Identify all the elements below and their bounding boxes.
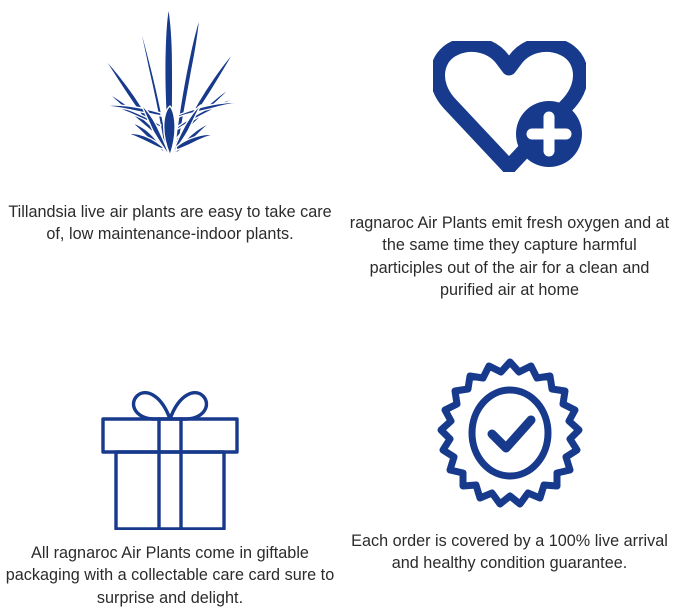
feature-cell-giftable: All ragnaroc Air Plants come in giftable… bbox=[0, 308, 340, 616]
heart-plus-icon bbox=[340, 0, 679, 172]
feature-caption: ragnaroc Air Plants emit fresh oxygen an… bbox=[350, 212, 670, 301]
feature-caption: All ragnaroc Air Plants come in giftable… bbox=[4, 542, 336, 609]
feature-caption: Each order is covered by a 100% live arr… bbox=[345, 530, 675, 575]
verified-badge-icon bbox=[340, 308, 679, 518]
feature-cell-oxygen: ragnaroc Air Plants emit fresh oxygen an… bbox=[340, 0, 679, 308]
feature-grid: Tillandsia live air plants are easy to t… bbox=[0, 0, 679, 616]
feature-cell-guarantee: Each order is covered by a 100% live arr… bbox=[340, 308, 679, 616]
gift-box-icon bbox=[0, 308, 340, 530]
air-plant-icon bbox=[0, 0, 340, 155]
feature-caption: Tillandsia live air plants are easy to t… bbox=[3, 201, 337, 246]
feature-cell-care: Tillandsia live air plants are easy to t… bbox=[0, 0, 340, 308]
